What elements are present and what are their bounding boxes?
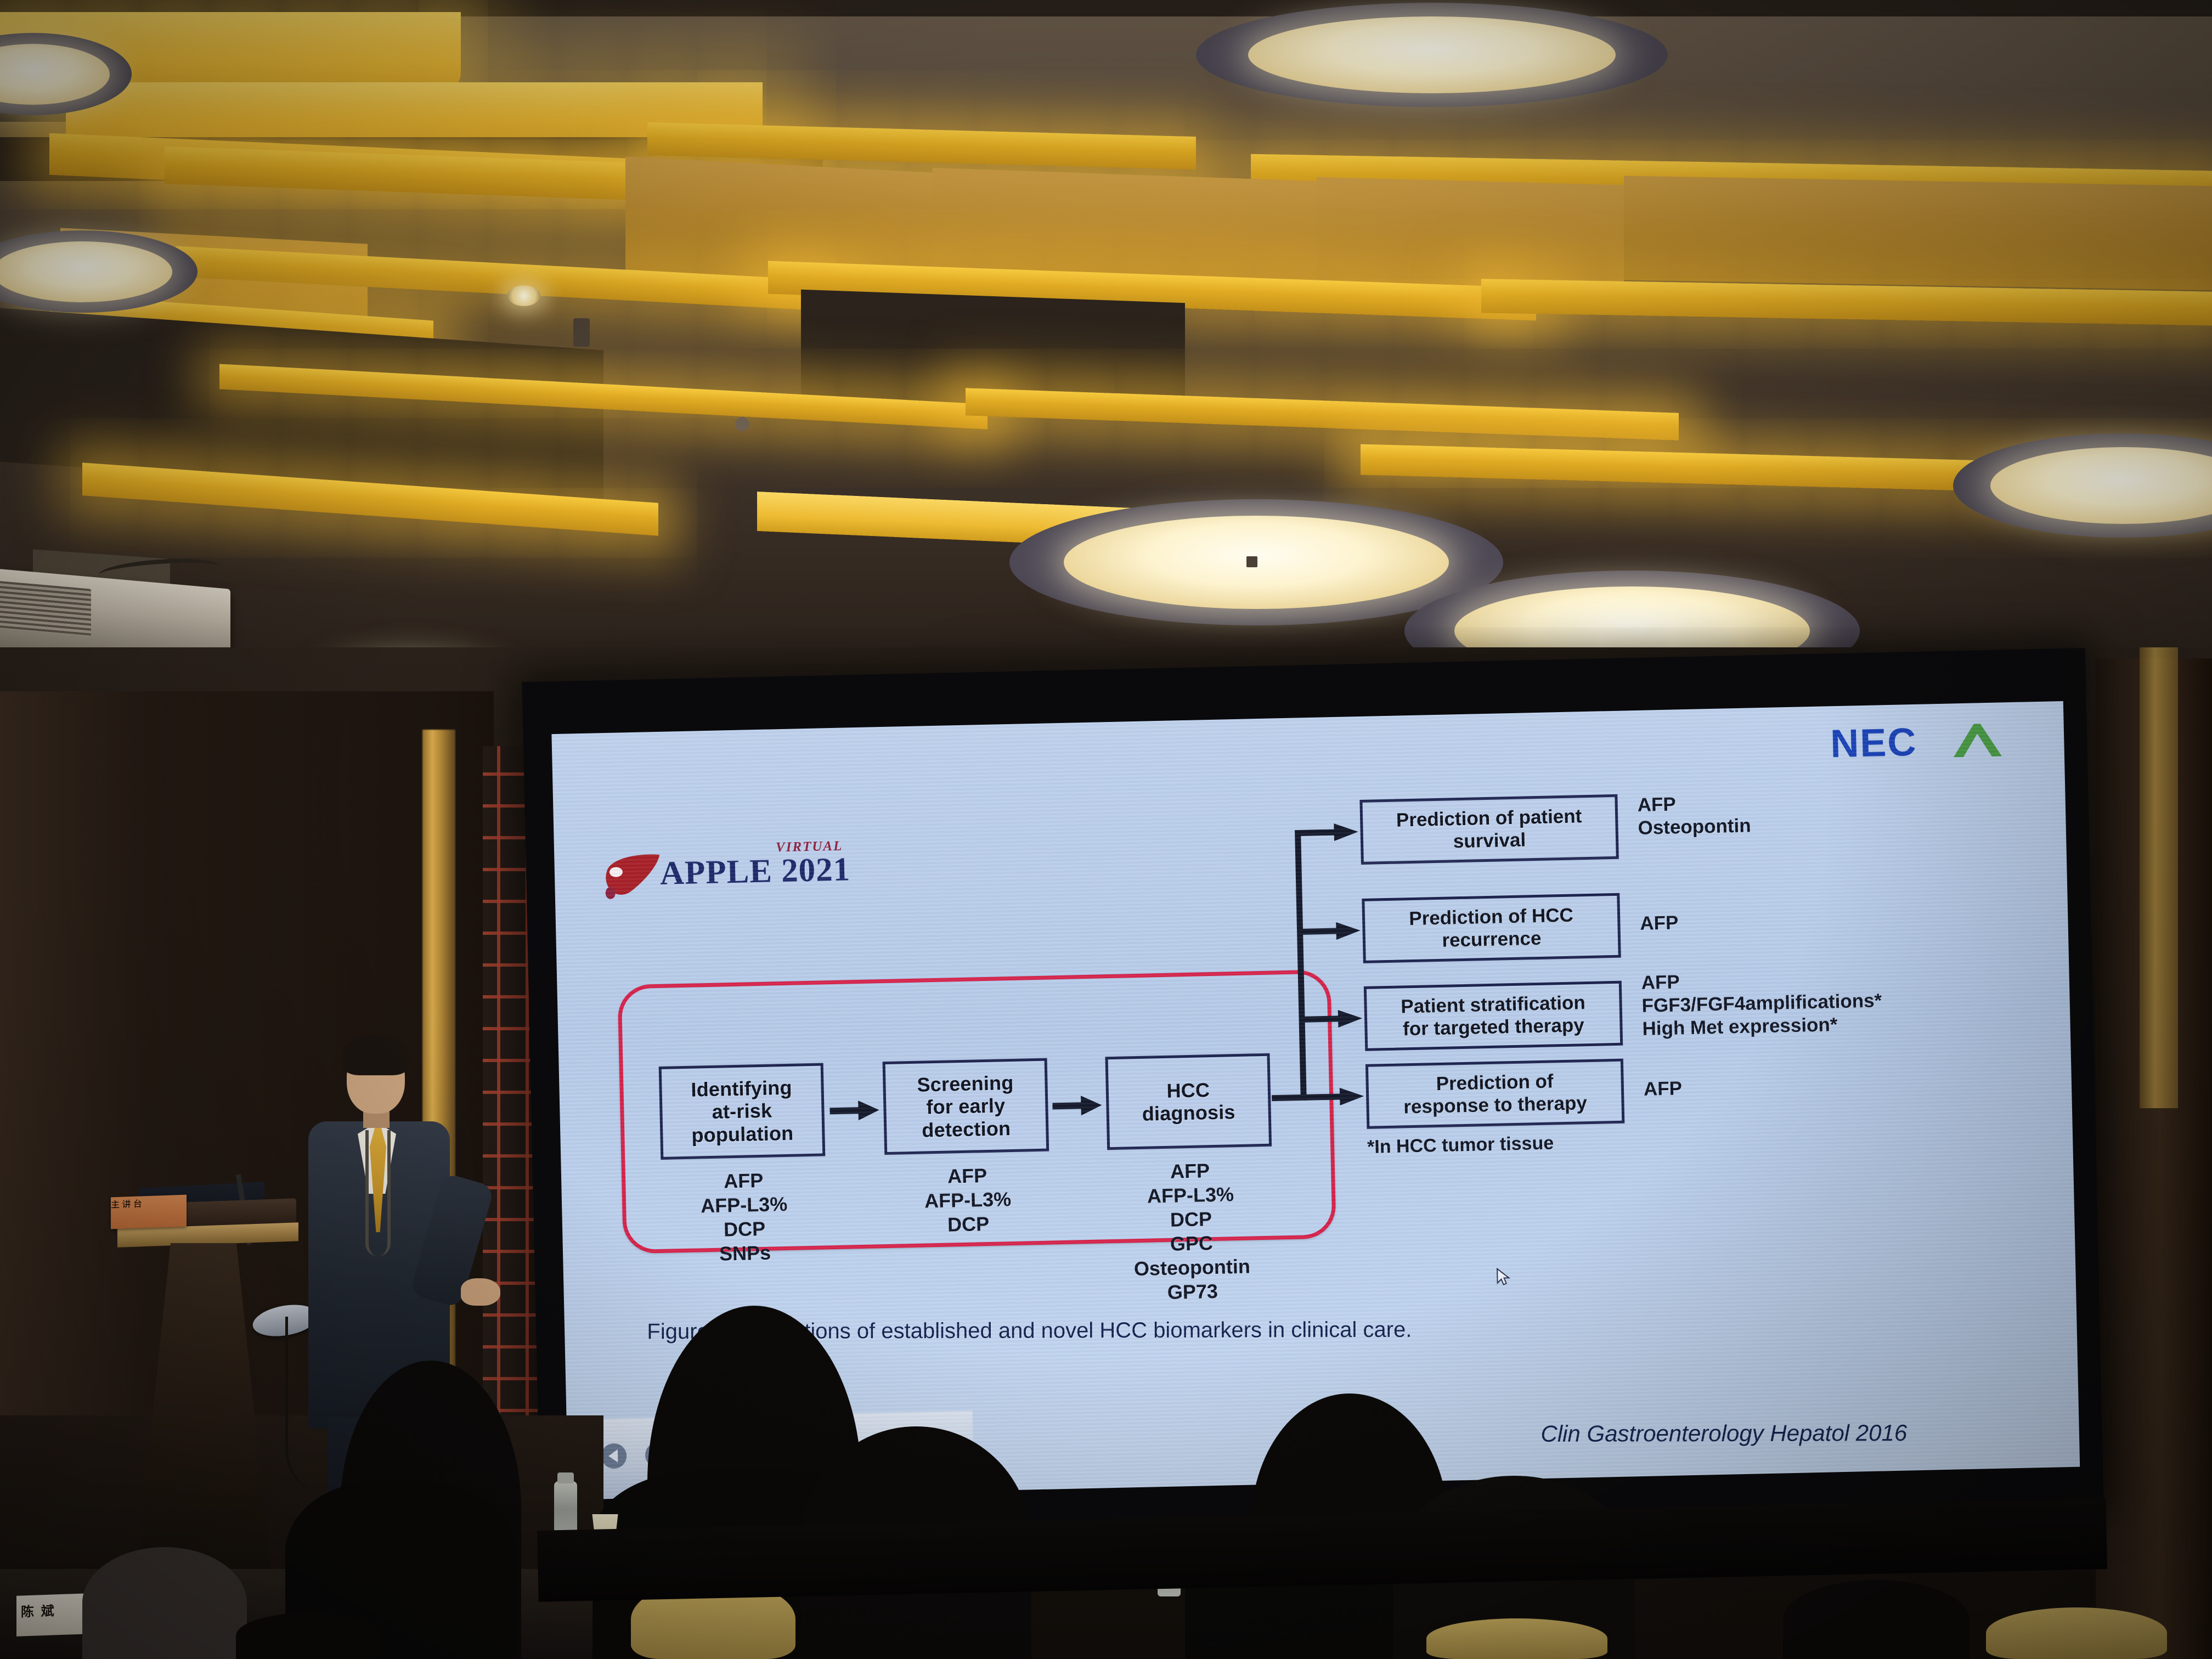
marker-item: AFP-L3%	[1097, 1181, 1284, 1209]
neca-logo: NEC	[1830, 714, 2012, 769]
outcome-box-prediction-recurrence: Prediction of HCC recurrence	[1362, 893, 1621, 963]
outcome-markers-response: AFP	[1644, 1077, 1683, 1101]
apple-2021-logo: APPLE 2021 VIRTUAL	[602, 840, 889, 912]
ceiling-lamp-4	[1196, 3, 1668, 107]
audience-person-6	[1783, 1580, 1970, 1659]
speaker-right-hand	[461, 1278, 500, 1306]
ceiling-wood-panel-4	[1624, 176, 2212, 290]
right-wall-gold-trim	[2140, 647, 2178, 1108]
flow-box-line2: for early	[917, 1094, 1014, 1119]
podium-nameplate-text: 主 讲 台	[111, 1195, 187, 1211]
outcome-box-prediction-response: Prediction of response to therapy	[1365, 1059, 1624, 1129]
flow-box-line1: Identifying	[690, 1076, 793, 1101]
footnote-hcc-tumor-tissue: *In HCC tumor tissue	[1367, 1132, 1554, 1158]
marker-item: AFP	[1097, 1157, 1284, 1185]
flow-box-identifying: Identifying at-risk population	[659, 1063, 826, 1160]
arrow-right-icon-2	[1052, 1094, 1103, 1117]
arrow-right-icon-1	[830, 1099, 881, 1122]
marker-item: Osteopontin	[1098, 1254, 1285, 1282]
lamp-glow	[1248, 16, 1616, 94]
flow-box-screening: Screening for early detection	[883, 1058, 1049, 1155]
chevron-left-icon	[608, 1449, 618, 1463]
outcome-markers-survival: AFP Osteopontin	[1637, 791, 1751, 839]
ceiling-fixture-box	[573, 318, 590, 347]
markers-screening: AFP AFP-L3% DCP	[885, 1163, 1051, 1238]
audience-name-card-text: 陈 斌	[21, 1600, 56, 1620]
citation-journal: Clin Gastroenterology Hepatol 2016	[1541, 1420, 1907, 1447]
marker-item: DCP	[1098, 1205, 1285, 1233]
marker-item: AFP-L3%	[885, 1186, 1051, 1214]
projector-vent	[0, 581, 91, 636]
outcome-line1: Prediction of	[1403, 1069, 1587, 1096]
podium-nameplate: 主 讲 台	[111, 1195, 187, 1229]
previous-slide-button[interactable]	[601, 1443, 627, 1469]
apple-logo-virtual-text: VIRTUAL	[776, 839, 843, 856]
outcome-markers-recurrence: AFP	[1640, 911, 1679, 935]
marker-item: SNPs	[663, 1239, 828, 1267]
bottle-cap	[557, 1472, 574, 1483]
flow-box-line2: at-risk	[691, 1099, 793, 1124]
marker-item: AFP	[1644, 1077, 1683, 1101]
neca-logo-text: NEC	[1830, 720, 1917, 766]
flow-box-line1: HCC	[1141, 1078, 1235, 1103]
marker-item: DCP	[662, 1215, 827, 1243]
marker-item: AFP	[885, 1163, 1050, 1190]
outcome-line2: survival	[1396, 827, 1582, 854]
outcome-line2: for targeted therapy	[1401, 1014, 1586, 1041]
outcome-line2: response to therapy	[1403, 1092, 1587, 1119]
marker-item: AFP	[661, 1167, 826, 1194]
ceiling-spot-light	[507, 285, 540, 306]
conference-room-scene: APPLE 2021 VIRTUAL NEC Identifying at-ri…	[0, 0, 2212, 1659]
outcome-line2: recurrence	[1409, 927, 1574, 953]
marker-item: AFP	[1637, 791, 1751, 816]
apple-logo-text: APPLE 2021	[659, 850, 851, 893]
outcome-markers-stratification: AFP FGF3/FGF4amplifications* High Met ex…	[1641, 966, 1882, 1041]
marker-item: AFP	[1640, 911, 1679, 935]
outcome-line1: Prediction of patient	[1396, 805, 1582, 832]
speaker-hair	[342, 1035, 409, 1075]
markers-hcc-diagnosis: AFP AFP-L3% DCP GPC Osteopontin GP73	[1097, 1157, 1286, 1306]
mouse-cursor-icon	[1496, 1267, 1511, 1286]
audience-person-8	[236, 1613, 379, 1659]
outcome-box-patient-stratification: Patient stratification for targeted ther…	[1364, 981, 1623, 1051]
audience-person-7	[82, 1547, 247, 1659]
lamp-glow	[0, 241, 172, 302]
marker-item: GPC	[1098, 1229, 1285, 1257]
outcome-box-prediction-survival: Prediction of patient survival	[1359, 794, 1618, 865]
flow-box-line2: diagnosis	[1142, 1101, 1235, 1125]
ceiling-sprinkler	[735, 417, 749, 431]
flow-box-line3: detection	[918, 1117, 1015, 1142]
chair-back-3	[1986, 1607, 2167, 1659]
speaker-lanyard	[365, 1130, 391, 1256]
flow-box-line1: Screening	[917, 1071, 1014, 1096]
flow-box-line3: population	[691, 1121, 794, 1146]
chair-back-2	[1426, 1618, 1607, 1659]
outcome-line1: Patient stratification	[1401, 991, 1585, 1018]
podium-body	[135, 1243, 272, 1583]
marker-item: High Met expression*	[1642, 1012, 1882, 1041]
outcome-line1: Prediction of HCC	[1409, 904, 1573, 930]
neca-chevron-a-icon	[1950, 722, 2005, 757]
marker-item: Osteopontin	[1638, 814, 1751, 839]
lamp-stud	[1246, 556, 1257, 568]
podium: 主 讲 台	[115, 1201, 296, 1585]
markers-identifying: AFP AFP-L3% DCP SNPs	[661, 1167, 828, 1267]
marker-item: GP73	[1099, 1278, 1286, 1306]
marker-item: DCP	[886, 1210, 1051, 1238]
flow-box-hcc-diagnosis: HCC diagnosis	[1105, 1053, 1272, 1150]
marker-item: AFP-L3%	[662, 1191, 827, 1218]
